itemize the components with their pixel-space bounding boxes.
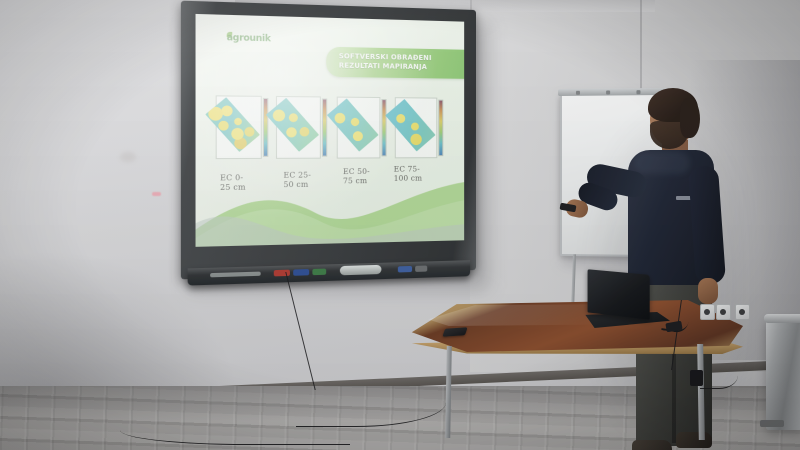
presenter-shoulder-highlight [634, 152, 690, 174]
ec-map-50-75 [335, 92, 389, 164]
wall-outlet[interactable] [735, 304, 750, 320]
agrounik-logo: agrounik [227, 33, 271, 45]
laptop[interactable] [578, 272, 664, 332]
presentation-slide: agrounik SOFTVERSKI OBRAĐENI REZULTATI M… [196, 14, 465, 247]
ec-map-0-25 [213, 91, 270, 165]
presenter-hair-back [680, 98, 700, 138]
power-cable [700, 362, 738, 389]
wall-smudge [120, 152, 136, 162]
ec-colorbar [438, 100, 443, 157]
stainless-steel-bin [766, 318, 800, 430]
presenter-shoe-left [632, 440, 672, 450]
ec-colorbar [381, 99, 386, 156]
presentation-room-photo: SMART agrounik SOFTVERSKI OBRAĐENI REZUL… [0, 0, 800, 450]
slide-title-banner: SOFTVERSKI OBRAĐENI REZULTATI MAPIRANJA [326, 47, 464, 79]
ec-map-25-50 [274, 92, 330, 165]
slide-title: SOFTVERSKI OBRAĐENI REZULTATI MAPIRANJA [339, 52, 464, 73]
presenter-shoe-right [676, 432, 712, 448]
slide-wave-decoration [196, 176, 465, 247]
stylus[interactable] [415, 265, 427, 271]
black-pen[interactable] [398, 266, 412, 273]
laptop-screen [588, 269, 650, 320]
power-adapter [690, 370, 703, 386]
flipchart-clip [576, 91, 580, 95]
ec-map-row [213, 91, 447, 165]
ec-colorbar [263, 98, 268, 157]
eraser[interactable] [340, 265, 382, 276]
smart-interactive-whiteboard[interactable]: SMART agrounik SOFTVERSKI OBRAĐENI REZUL… [181, 1, 476, 280]
tray-indicator [210, 272, 261, 278]
bin-lid [764, 314, 800, 323]
projection-surface[interactable]: agrounik SOFTVERSKI OBRAĐENI REZULTATI M… [196, 14, 465, 247]
ec-map-75-100 [393, 93, 446, 164]
bin-pedal [760, 420, 784, 427]
wall-red-mark [152, 192, 161, 196]
ec-colorbar [322, 98, 327, 156]
